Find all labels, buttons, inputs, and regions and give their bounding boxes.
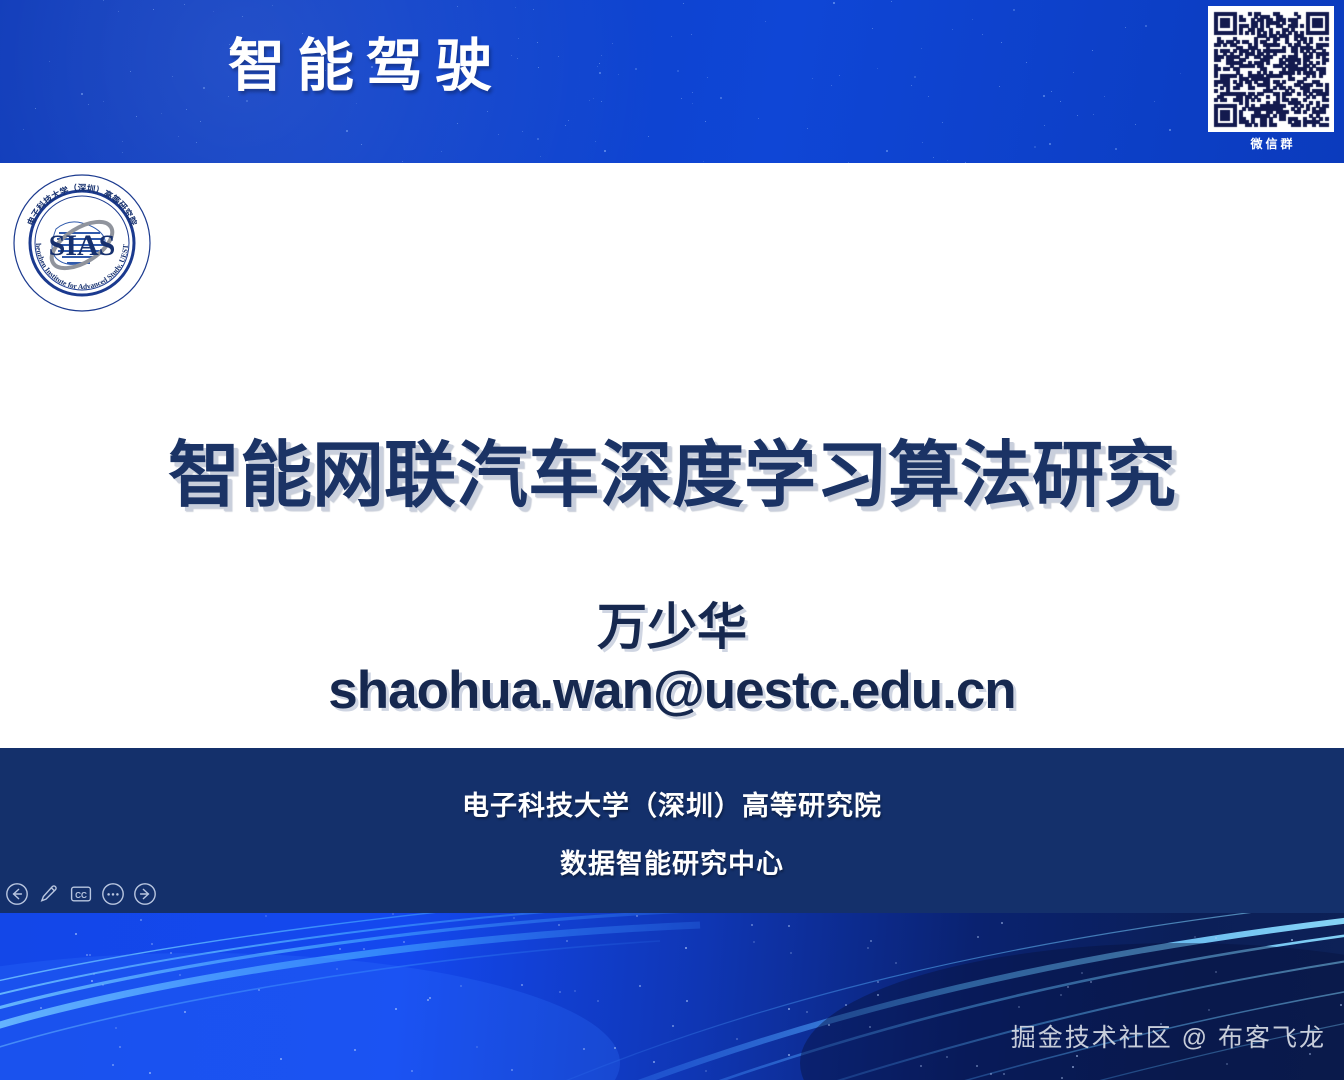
cc-icon: CC [69,882,93,906]
particle-dot [990,1073,992,1075]
particle-dot [597,1000,599,1002]
particle-dot [559,991,561,993]
particle-dot [1090,981,1092,983]
particle-dot [790,952,792,954]
particle-dot [40,1007,42,1009]
particle-dot [460,985,462,987]
particle-dot [1215,971,1217,973]
particle-dot [583,1048,585,1050]
particle-dot [558,924,560,926]
particle-dot [636,915,638,917]
particle-dot [1226,1063,1228,1065]
header-title: 智能驾驶 [228,38,504,95]
particle-dot [1018,1006,1020,1008]
particle-dot [753,941,755,943]
light-streaks-decoration [0,913,1344,1080]
pen-tool-button[interactable] [36,881,62,907]
footer-center-line: 数据智能研究中心 [0,842,1344,881]
slide-footer-band: 电子科技大学（深圳）高等研究院 数据智能研究中心 CC [0,748,1344,913]
closed-captions-button[interactable]: CC [68,881,94,907]
wechat-qr-block[interactable]: 微信群 [1208,6,1338,152]
page-title: 智能网联汽车深度学习算法研究 [0,437,1344,516]
particle-dot [429,997,431,999]
particle-dot [566,940,568,942]
next-slide-button[interactable] [132,881,158,907]
slide-header-banner: 智能驾驶 微信群 [0,0,1344,163]
particle-dot [788,1008,790,1010]
qr-code-label: 微信群 [1208,135,1338,152]
particle-dot [653,1061,655,1063]
particle-dot [946,1056,948,1058]
particle-dot [184,1011,186,1013]
particle-dot [869,1026,871,1028]
particle-dot [403,941,405,943]
sias-logo: SIAS 电子科技大学（深圳）高等研究院 Shenzhen Institute … [10,171,154,315]
particle-dot [867,947,869,949]
author-email[interactable]: shaohua.wan@uestc.edu.cn [0,663,1344,719]
particle-dot [788,925,790,927]
previous-slide-button[interactable] [4,881,30,907]
particle-dot [521,984,523,986]
arrow-right-circle-icon [133,882,157,906]
particle-dot [828,1024,830,1026]
svg-text:CC: CC [75,891,87,900]
particle-dot [102,984,104,986]
particle-dot [920,1065,922,1067]
particle-dot [1079,1027,1081,1029]
particle-dot [1208,1009,1210,1011]
particle-dot [870,940,872,942]
slide-body: SIAS 电子科技大学（深圳）高等研究院 Shenzhen Institute … [0,163,1344,748]
arrow-left-circle-icon [5,882,29,906]
particle-dot [170,952,172,954]
pen-icon [37,882,61,906]
footer-institution-line: 电子科技大学（深圳）高等研究院 [0,784,1344,823]
presentation-slide: 智能驾驶 微信群 [0,0,1344,1080]
presentation-toolbar[interactable]: CC [4,879,158,909]
ellipsis-circle-icon [101,882,125,906]
particle-dot [614,1047,616,1049]
slide-bottom-decoration: 掘金技术社区 @ 布客飞龙 [0,913,1344,1080]
header-particle-decoration [0,0,1344,163]
particle-dot [89,954,91,956]
author-name: 万少华 [0,601,1344,654]
svg-text:SIAS: SIAS [49,229,116,262]
particle-dot [476,1046,478,1048]
qr-code-icon[interactable] [1208,6,1334,132]
particle-dot [336,968,338,970]
particle-dot [639,985,641,987]
sias-seal-icon: SIAS 电子科技大学（深圳）高等研究院 Shenzhen Institute … [10,171,154,315]
particle-dot [280,1058,282,1060]
particle-dot [392,913,394,915]
particle-dot [1067,986,1069,988]
more-options-button[interactable] [100,881,126,907]
watermark-text: 掘金技术社区 @ 布客飞龙 [1011,1018,1326,1054]
particle-dot [151,943,153,945]
